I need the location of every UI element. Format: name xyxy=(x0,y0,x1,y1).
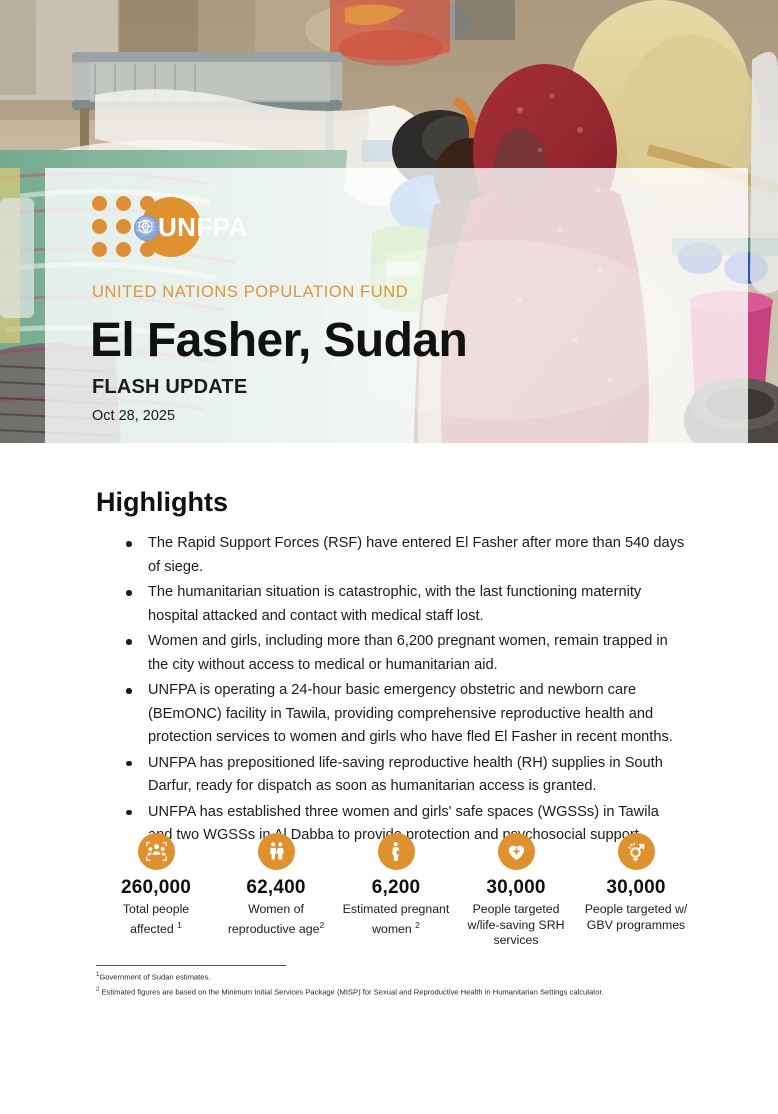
stat-label-line2: women xyxy=(372,922,412,936)
list-item: The Rapid Support Forces (RSF) have ente… xyxy=(118,532,686,579)
publication-date: Oct 28, 2025 xyxy=(92,408,175,424)
stat-label-line2: w/life-saving SRH xyxy=(467,918,564,932)
list-item: UNFPA has prepositioned life-saving repr… xyxy=(118,752,686,799)
stat-srh-services-targeted: 30,000 People targeted w/life-saving SRH… xyxy=(456,833,576,949)
stat-label: People targeted w/ GBV programmes xyxy=(576,902,696,933)
footnote-text: Government of Sudan estimates. xyxy=(99,973,210,982)
pregnant-woman-icon xyxy=(378,833,415,870)
highlights-list: The Rapid Support Forces (RSF) have ente… xyxy=(118,532,686,850)
list-item-text: The humanitarian situation is catastroph… xyxy=(148,584,641,624)
logo-dot xyxy=(92,196,107,211)
stat-estimated-pregnant-women: 6,200 Estimated pregnant women 2 xyxy=(336,833,456,949)
list-item-text: The Rapid Support Forces (RSF) have ente… xyxy=(148,535,684,575)
stat-total-people-affected: 260,000 Total people affected 1 xyxy=(96,833,216,949)
stat-label-line3: services xyxy=(493,933,538,947)
stat-value: 260,000 xyxy=(96,877,216,899)
highlights-heading: Highlights xyxy=(96,487,228,518)
footnote-item: 1Government of Sudan estimates. xyxy=(96,970,666,983)
page-title: El Fasher, Sudan xyxy=(90,313,467,369)
logo-dot xyxy=(116,219,131,234)
bullet-icon xyxy=(126,688,132,694)
hero-text-overlay-panel: UNFPA UNITED NATIONS POPULATION FUND El … xyxy=(45,168,748,443)
stat-label-line2: affected xyxy=(130,922,174,936)
list-item-text: Women and girls, including more than 6,2… xyxy=(148,633,668,673)
stat-label-line1: Estimated pregnant xyxy=(343,902,450,916)
list-item: The humanitarian situation is catastroph… xyxy=(118,581,686,628)
footnote-divider xyxy=(96,965,286,966)
logo-dot xyxy=(92,242,107,257)
stat-label-line1: Women of xyxy=(248,902,304,916)
bullet-icon xyxy=(126,541,132,547)
stat-label: Women of reproductive age2 xyxy=(216,902,336,937)
stat-women-reproductive-age: 62,400 Women of reproductive age2 xyxy=(216,833,336,949)
stat-label-line1: Total people xyxy=(123,902,189,916)
stat-label-line1: People targeted xyxy=(473,902,560,916)
document-type: FLASH UPDATE xyxy=(92,376,247,399)
unfpa-logo: UNFPA xyxy=(92,196,262,258)
heart-plus-icon xyxy=(498,833,535,870)
stat-value: 30,000 xyxy=(456,877,576,899)
bullet-icon xyxy=(126,639,132,645)
stat-value: 62,400 xyxy=(216,877,336,899)
stat-value: 30,000 xyxy=(576,877,696,899)
organization-name: UNITED NATIONS POPULATION FUND xyxy=(92,283,408,302)
stat-value: 6,200 xyxy=(336,877,456,899)
stat-label-line2: GBV programmes xyxy=(587,918,685,932)
stat-label-line2: reproductive age xyxy=(228,922,320,936)
stat-label-line1: People targeted w/ xyxy=(585,902,688,916)
key-figures-row: 260,000 Total people affected 1 62,400 W… xyxy=(96,833,696,949)
stat-footnote-marker: 2 xyxy=(415,920,420,930)
stat-gbv-programmes-targeted: 30,000 People targeted w/ GBV programmes xyxy=(576,833,696,949)
stat-label: Total people affected 1 xyxy=(96,902,216,937)
bullet-icon xyxy=(126,590,132,596)
stat-label: People targeted w/life-saving SRH servic… xyxy=(456,902,576,949)
un-emblem-icon xyxy=(134,215,160,241)
people-group-icon xyxy=(138,833,175,870)
two-women-icon xyxy=(258,833,295,870)
stat-footnote-marker: 1 xyxy=(177,920,182,930)
stat-footnote-marker: 2 xyxy=(319,920,324,930)
list-item-text: UNFPA is operating a 24-hour basic emerg… xyxy=(148,682,673,745)
footnote-text: Estimated figures are based on the Minim… xyxy=(99,988,603,997)
gender-symbol-icon xyxy=(618,833,655,870)
logo-dot xyxy=(92,219,107,234)
logo-dot xyxy=(116,196,131,211)
list-item-text: UNFPA has prepositioned life-saving repr… xyxy=(148,755,663,795)
logo-wordmark: UNFPA xyxy=(158,214,248,240)
logo-dot xyxy=(116,242,131,257)
bullet-icon xyxy=(126,810,132,816)
footnote-item: 2 Estimated figures are based on the Min… xyxy=(96,985,666,998)
stat-label: Estimated pregnant women 2 xyxy=(336,902,456,937)
list-item: Women and girls, including more than 6,2… xyxy=(118,630,686,677)
bullet-icon xyxy=(126,761,132,767)
footnotes: 1Government of Sudan estimates. 2 Estima… xyxy=(96,970,666,1000)
list-item: UNFPA is operating a 24-hour basic emerg… xyxy=(118,679,686,750)
hero-banner: UNFPA UNITED NATIONS POPULATION FUND El … xyxy=(0,0,778,443)
